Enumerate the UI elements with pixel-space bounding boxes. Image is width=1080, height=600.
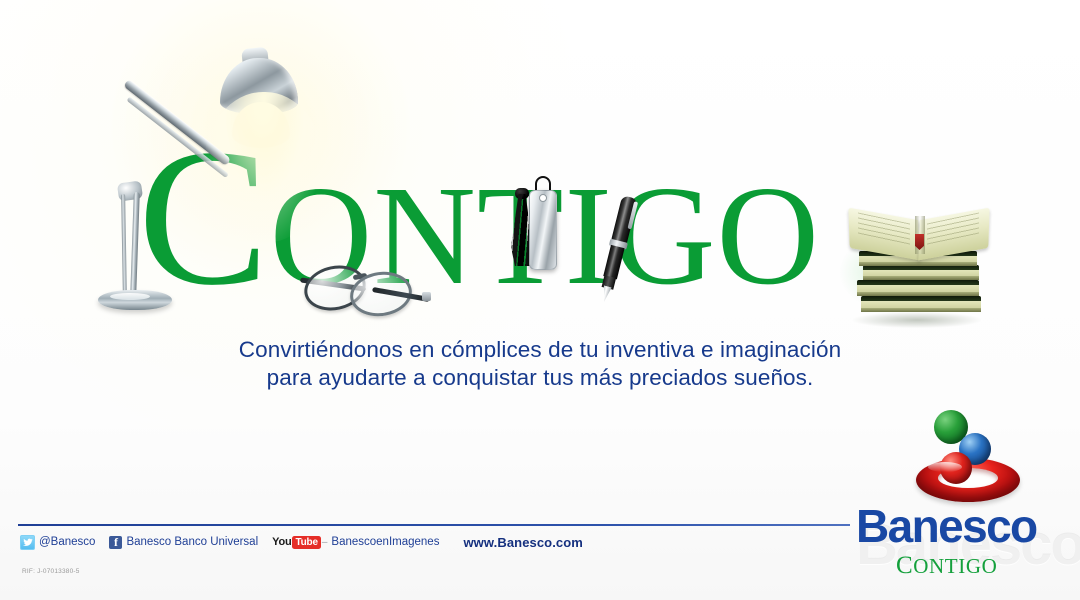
youtube-tube-badge: Tube: [292, 536, 320, 549]
lamp-upper-arm-inner: [126, 97, 228, 179]
metal-bookmark-icon: [505, 172, 565, 302]
desk-lamp-icon: [92, 22, 307, 310]
social-label-facebook: Banesco Banco Universal: [126, 536, 258, 548]
lamp-lower-arm-inner: [121, 194, 127, 294]
closed-book-3: [863, 265, 979, 280]
closed-book-2: [857, 280, 979, 296]
rif-registration-number: RIF: J-07013380-5: [22, 568, 80, 575]
banesco-spheres-mark: [910, 406, 1026, 502]
book-stack-icon: [845, 208, 995, 330]
tagline-line-2: para ayudarte a conquistar tus más preci…: [0, 364, 1080, 392]
youtube-icon: You Tube –: [272, 536, 327, 549]
bookmark-hole: [539, 194, 547, 202]
social-link-twitter[interactable]: @Banesco: [20, 535, 95, 550]
lamp-upper-arm: [123, 79, 231, 166]
headline-letter-o2: O: [716, 164, 820, 306]
book-page-edge: [857, 292, 979, 296]
book-page-edge: [861, 308, 981, 312]
book-spine: [861, 296, 981, 301]
eyeglasses-icon: [298, 258, 430, 314]
website-link[interactable]: www.Banesco.com: [463, 535, 583, 550]
book-spine: [857, 280, 979, 285]
twitter-icon: [20, 535, 35, 550]
tagline-block: Convirtiéndonos en cómplices de tu inven…: [0, 336, 1080, 392]
social-link-facebook[interactable]: f Banesco Banco Universal: [109, 536, 258, 549]
banesco-logo[interactable]: Banesco Banesco CONTIGO: [852, 406, 1070, 592]
pen-nib: [600, 285, 612, 302]
logo-sphere-red: [940, 452, 972, 484]
logo-tagline: CONTIGO: [896, 552, 997, 580]
open-book: [849, 208, 991, 256]
closed-book-1: [861, 296, 981, 312]
social-label-youtube: BanescoenImagenes: [331, 536, 439, 548]
facebook-icon: f: [109, 536, 122, 549]
book-shadow: [853, 312, 981, 328]
tagline-line-1: Convirtiéndonos en cómplices de tu inven…: [239, 337, 841, 362]
pen-barrel: [603, 245, 624, 279]
footer-divider: [18, 524, 850, 526]
youtube-you-text: You: [272, 536, 291, 548]
logo-tagline-initial: C: [896, 552, 913, 579]
social-link-youtube[interactable]: You Tube – BanescoenImagenes: [272, 536, 439, 549]
glasses-temple-tip: [422, 292, 431, 301]
bookmark-plate: [529, 190, 557, 270]
social-label-twitter: @Banesco: [39, 536, 95, 548]
social-links-row: @Banesco f Banesco Banco Universal You T…: [20, 533, 583, 551]
logo-wordmark: Banesco: [856, 502, 1070, 550]
logo-tagline-rest: ONTIGO: [913, 554, 997, 578]
advertisement-canvas: CONTIGO: [0, 0, 1080, 600]
lamp-base-highlight: [110, 293, 150, 300]
book-page-edge: [859, 262, 977, 266]
book-page-edge: [863, 276, 979, 280]
youtube-dash: –: [322, 537, 328, 548]
lamp-lower-arm: [130, 192, 140, 296]
